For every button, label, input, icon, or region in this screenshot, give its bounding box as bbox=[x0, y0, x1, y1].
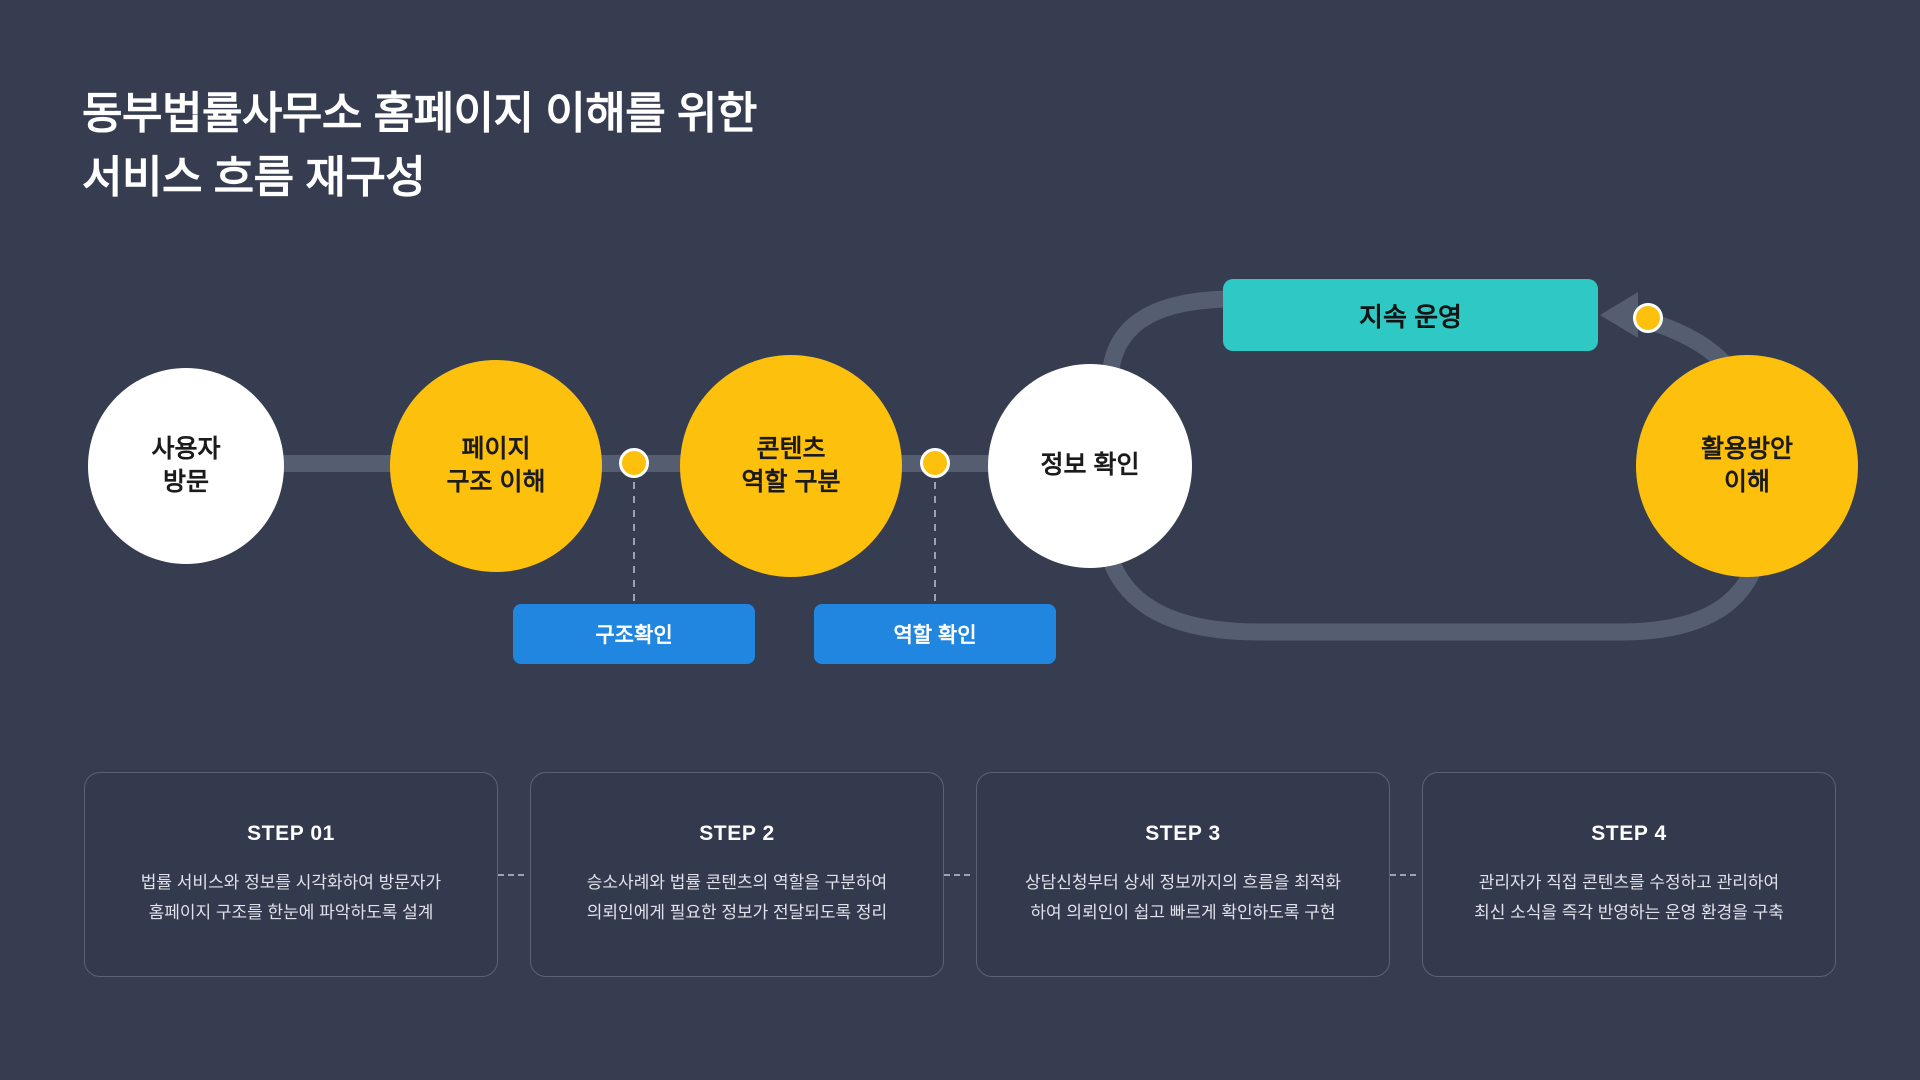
flow-node-info-check[interactable]: 정보 확인 bbox=[988, 364, 1192, 568]
step-card-3-description-line-1: 상담신청부터 상세 정보까지의 흐름을 최적화 bbox=[1025, 868, 1341, 898]
flow-node-page-structure-line-1: 페이지 bbox=[461, 433, 530, 466]
flow-node-content-role-line-2: 역할 구분 bbox=[742, 466, 841, 499]
step-card-1-description-line-2: 홈페이지 구조를 한눈에 파악하도록 설계 bbox=[141, 898, 441, 928]
flow-node-content-role-line-1: 콘텐츠 bbox=[756, 433, 825, 466]
flow-node-page-structure-line-2: 구조 이해 bbox=[447, 466, 546, 499]
step-card-4-description: 관리자가 직접 콘텐츠를 수정하고 관리하여 최신 소식을 즉각 반영하는 운영… bbox=[1474, 868, 1784, 928]
step-card-2-description: 승소사례와 법률 콘텐츠의 역할을 구분하여 의뢰인에게 필요한 정보가 전달되… bbox=[587, 868, 887, 928]
flow-node-usage-understanding[interactable]: 활용방안 이해 bbox=[1636, 355, 1858, 577]
step-card-1-description: 법률 서비스와 정보를 시각화하여 방문자가 홈페이지 구조를 한눈에 파악하도… bbox=[141, 868, 441, 928]
callout-continuous-operation[interactable]: 지속 운영 bbox=[1223, 279, 1598, 351]
step-card-4-description-line-1: 관리자가 직접 콘텐츠를 수정하고 관리하여 bbox=[1474, 868, 1784, 898]
flow-node-user-visit-line-1: 사용자 bbox=[151, 433, 220, 466]
flow-node-usage-understanding-line-2: 이해 bbox=[1724, 466, 1770, 499]
flow-node-user-visit-line-2: 방문 bbox=[163, 466, 209, 499]
step-card-4-title: STEP 4 bbox=[1591, 822, 1667, 846]
connector-usage-to-info-loop bbox=[1108, 548, 1760, 632]
flow-node-usage-understanding-line-1: 활용방안 bbox=[1701, 433, 1793, 466]
flow-node-content-role[interactable]: 콘텐츠 역할 구분 bbox=[680, 355, 902, 577]
chip-structure-check[interactable]: 구조확인 bbox=[513, 604, 755, 664]
step-card-3-title: STEP 3 bbox=[1145, 822, 1221, 846]
step-card-3[interactable]: STEP 3 상담신청부터 상세 정보까지의 흐름을 최적화 하여 의뢰인이 쉽… bbox=[976, 772, 1390, 977]
step-card-2-description-line-2: 의뢰인에게 필요한 정보가 전달되도록 정리 bbox=[587, 898, 887, 928]
step-card-4[interactable]: STEP 4 관리자가 직접 콘텐츠를 수정하고 관리하여 최신 소식을 즉각 … bbox=[1422, 772, 1836, 977]
flow-node-user-visit[interactable]: 사용자 방문 bbox=[88, 368, 284, 564]
step-card-3-description-line-2: 하여 의뢰인이 쉽고 빠르게 확인하도록 구현 bbox=[1025, 898, 1341, 928]
junction-dot-structure[interactable] bbox=[619, 448, 649, 478]
step-card-2-description-line-1: 승소사례와 법률 콘텐츠의 역할을 구분하여 bbox=[587, 868, 887, 898]
connector-info-to-operate bbox=[1110, 299, 1230, 380]
step-card-1-title: STEP 01 bbox=[247, 822, 335, 846]
chip-structure-check-label: 구조확인 bbox=[595, 619, 672, 649]
step-card-4-description-line-2: 최신 소식을 즉각 반영하는 운영 환경을 구축 bbox=[1474, 898, 1784, 928]
step-card-1-description-line-1: 법률 서비스와 정보를 시각화하여 방문자가 bbox=[141, 868, 441, 898]
service-flow-diagram: 사용자 방문 페이지 구조 이해 콘텐츠 역할 구분 정보 확인 활용방안 이해… bbox=[0, 0, 1920, 740]
steps-row: STEP 01 법률 서비스와 정보를 시각화하여 방문자가 홈페이지 구조를 … bbox=[84, 772, 1836, 977]
step-card-3-description: 상담신청부터 상세 정보까지의 흐름을 최적화 하여 의뢰인이 쉽고 빠르게 확… bbox=[1025, 868, 1341, 928]
flow-node-info-check-line-1: 정보 확인 bbox=[1041, 449, 1140, 482]
callout-continuous-operation-label: 지속 운영 bbox=[1359, 297, 1462, 334]
step-card-2[interactable]: STEP 2 승소사례와 법률 콘텐츠의 역할을 구분하여 의뢰인에게 필요한 … bbox=[530, 772, 944, 977]
chip-role-check-label: 역할 확인 bbox=[893, 619, 976, 649]
chip-role-check[interactable]: 역할 확인 bbox=[814, 604, 1056, 664]
step-card-2-title: STEP 2 bbox=[699, 822, 775, 846]
flow-node-page-structure[interactable]: 페이지 구조 이해 bbox=[390, 360, 602, 572]
junction-dot-role[interactable] bbox=[920, 448, 950, 478]
step-card-1[interactable]: STEP 01 법률 서비스와 정보를 시각화하여 방문자가 홈페이지 구조를 … bbox=[84, 772, 498, 977]
connector-visit-to-structure bbox=[270, 455, 410, 472]
junction-dot-loop[interactable] bbox=[1633, 303, 1663, 333]
